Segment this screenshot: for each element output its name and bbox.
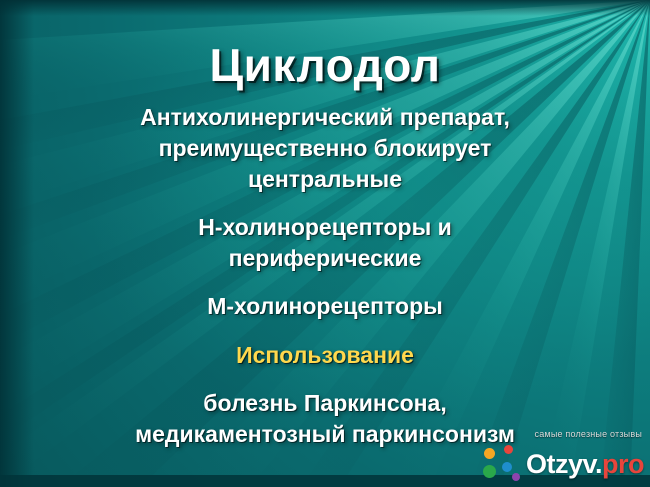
watermark-caption: самые полезные отзывы — [535, 429, 642, 439]
slide-title: Циклодол — [0, 0, 650, 92]
body-line-2: преимущественно блокирует — [26, 133, 624, 164]
body-line-4: Н-холинорецепторы и — [26, 212, 624, 243]
body-line-6: М-холинорецепторы — [26, 291, 624, 322]
body-line-5: периферические — [26, 243, 624, 274]
logo-brand: Otzyv — [526, 449, 595, 479]
presentation-slide: Циклодол Антихолинергический препарат, п… — [0, 0, 650, 487]
slide-body: Антихолинергический препарат, преимущест… — [0, 92, 650, 450]
body-line-usage-heading: Использование — [26, 340, 624, 371]
logo-suffix: pro — [602, 449, 644, 479]
logo-dots-icon — [482, 445, 522, 483]
body-line-1: Антихолинергический препарат, — [26, 102, 624, 133]
body-line-8: болезнь Паркинсона, — [26, 388, 624, 419]
logo-wordmark: Otzyv.pro — [526, 449, 644, 479]
body-line-3: центральные — [26, 164, 624, 195]
watermark-logo[interactable]: Otzyv.pro — [482, 445, 644, 483]
watermark: самые полезные отзывы Otzyv.pro — [390, 429, 650, 487]
slide-content: Циклодол Антихолинергический препарат, п… — [0, 0, 650, 487]
logo-dot: . — [595, 449, 602, 479]
